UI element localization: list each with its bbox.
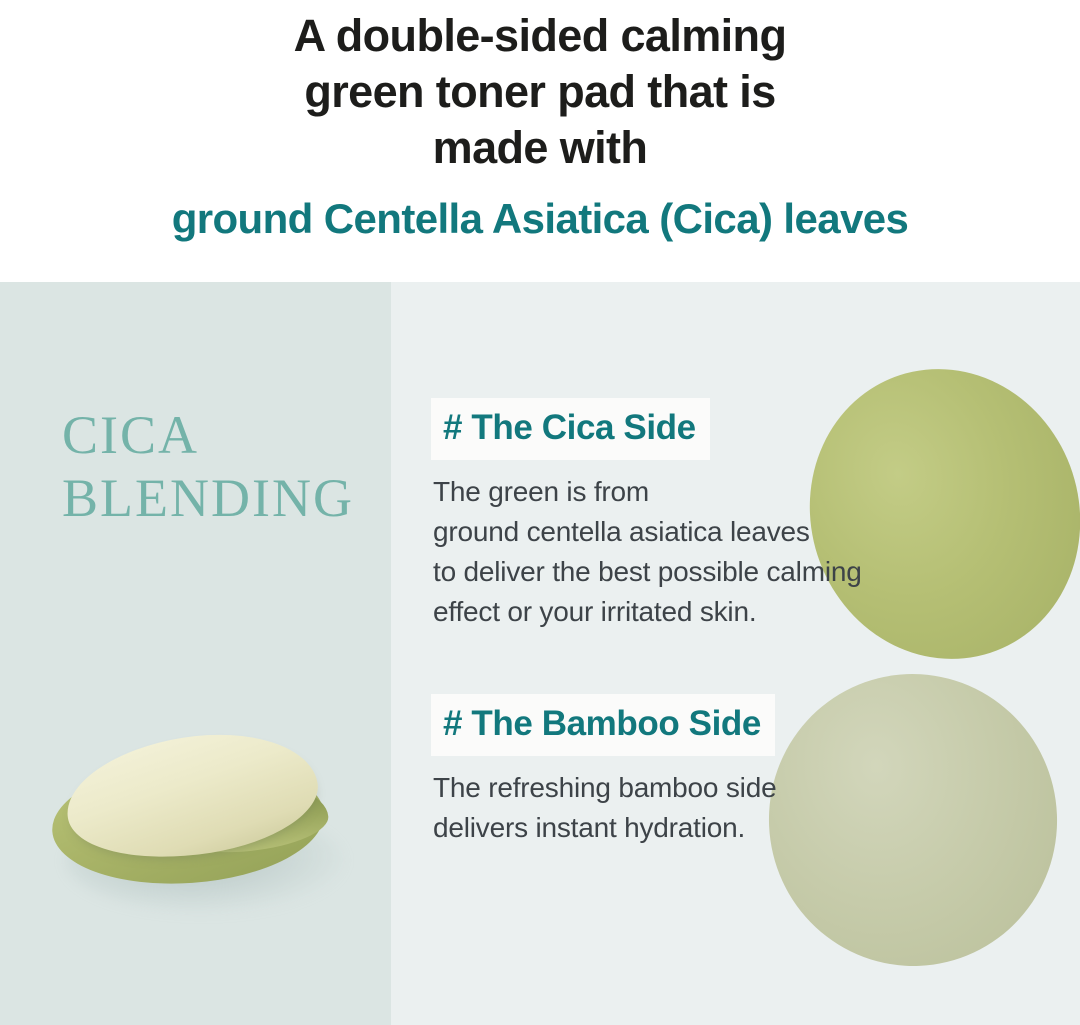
cica-body-line-4: effect or your irritated skin. <box>433 592 1071 632</box>
page-headline: A double-sided calming green toner pad t… <box>0 0 1080 176</box>
cica-blending-wordmark: CICA BLENDING <box>62 404 382 530</box>
bamboo-side-heading: # The Bamboo Side <box>431 694 775 756</box>
cica-side-heading: # The Cica Side <box>431 398 710 460</box>
left-panel: CICA BLENDING <box>0 282 391 1025</box>
right-panel: # The Cica Side The green is from ground… <box>391 282 1080 1025</box>
cica-body-line-3: to deliver the best possible calming <box>433 552 1071 592</box>
cica-body-line-2: ground centella asiatica leaves <box>433 512 1071 552</box>
cica-body-line-1: The green is from <box>433 472 1071 512</box>
bamboo-body-line-2: delivers instant hydration. <box>433 808 1071 848</box>
wordmark-line-2: BLENDING <box>62 467 382 530</box>
bamboo-side-body: The refreshing bamboo side delivers inst… <box>431 756 1071 848</box>
headline-line-2: green toner pad that is <box>0 64 1080 120</box>
headline-line-3: made with <box>0 120 1080 176</box>
toner-pad-product-photo <box>18 737 378 927</box>
headline-line-1: A double-sided calming <box>0 8 1080 64</box>
page-subheadline: ground Centella Asiatica (Cica) leaves <box>0 176 1080 244</box>
header-band: A double-sided calming green toner pad t… <box>0 0 1080 282</box>
bamboo-side-section: # The Bamboo Side The refreshing bamboo … <box>431 694 1071 848</box>
wordmark-line-1: CICA <box>62 404 382 467</box>
bamboo-body-line-1: The refreshing bamboo side <box>433 768 1071 808</box>
cica-side-section: # The Cica Side The green is from ground… <box>431 398 1071 632</box>
cica-side-body: The green is from ground centella asiati… <box>431 460 1071 632</box>
product-infographic: A double-sided calming green toner pad t… <box>0 0 1080 1025</box>
